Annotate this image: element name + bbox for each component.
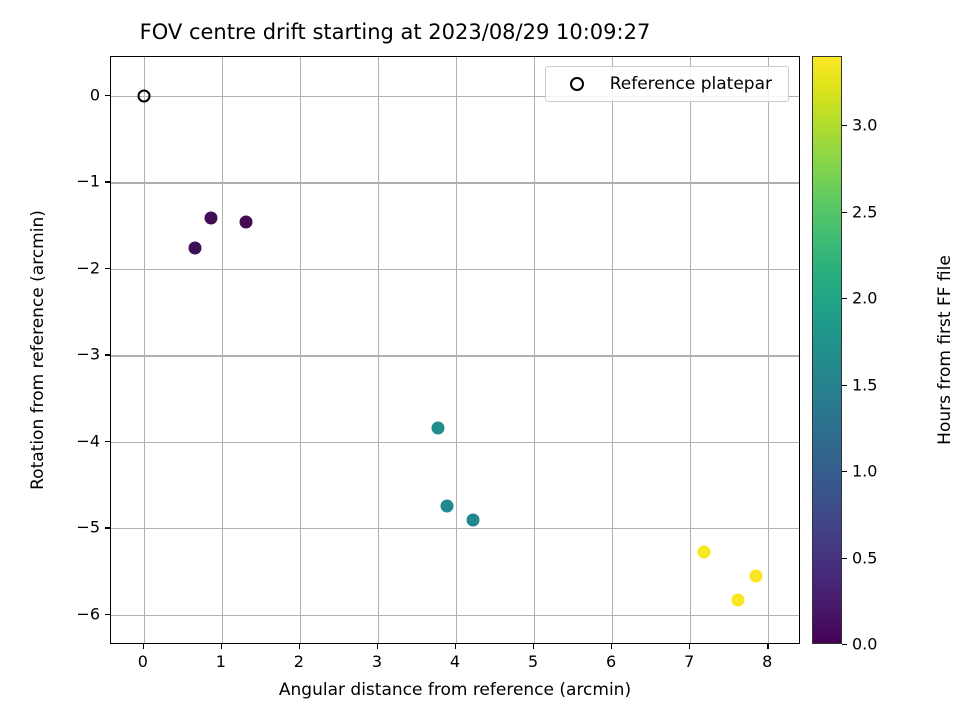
scatter-point — [204, 211, 217, 224]
y-tick-mark — [105, 268, 110, 269]
y-tick-mark — [105, 354, 110, 355]
y-axis-label: Rotation from reference (arcmin) — [28, 56, 48, 644]
x-tick-mark — [299, 644, 300, 649]
scatter-point — [440, 499, 453, 512]
x-tick-mark — [767, 644, 768, 649]
y-tick-mark — [105, 95, 110, 96]
x-tick-mark — [377, 644, 378, 649]
colorbar-tick-label: 2.5 — [852, 202, 877, 221]
gridline-vertical — [222, 57, 223, 643]
x-tick-mark — [455, 644, 456, 649]
gridline-vertical — [690, 57, 691, 643]
x-tick-label: 4 — [450, 652, 460, 671]
x-tick-label: 2 — [294, 652, 304, 671]
x-tick-mark — [689, 644, 690, 649]
gridline-horizontal — [111, 615, 799, 616]
y-tick-mark — [105, 614, 110, 615]
x-tick-mark — [221, 644, 222, 649]
y-tick-label: −5 — [76, 518, 100, 537]
scatter-point — [731, 594, 744, 607]
x-tick-label: 5 — [528, 652, 538, 671]
colorbar-tick-label: 3.0 — [852, 116, 877, 135]
y-tick-label: −3 — [76, 345, 100, 364]
colorbar-tick-mark — [842, 125, 847, 126]
reference-platepar-point — [137, 89, 150, 102]
y-tick-label: −2 — [76, 258, 100, 277]
gridline-vertical — [612, 57, 613, 643]
colorbar-tick-mark — [842, 298, 847, 299]
colorbar-tick-mark — [842, 558, 847, 559]
colorbar-tick-mark — [842, 385, 847, 386]
colorbar-tick-label: 1.5 — [852, 375, 877, 394]
plot-area: Reference platepar — [110, 56, 800, 644]
scatter-point — [749, 569, 762, 582]
y-tick-label: −1 — [76, 172, 100, 191]
colorbar-tick-label: 0.5 — [852, 548, 877, 567]
gridline-vertical — [144, 57, 145, 643]
y-tick-mark — [105, 441, 110, 442]
x-axis-label: Angular distance from reference (arcmin) — [110, 680, 800, 700]
gridline-horizontal — [111, 355, 799, 356]
y-tick-label: −4 — [76, 431, 100, 450]
colorbar-tick-mark — [842, 644, 847, 645]
gridline-horizontal — [111, 269, 799, 270]
gridline-horizontal — [111, 442, 799, 443]
y-tick-label: −6 — [76, 604, 100, 623]
y-tick-mark — [105, 527, 110, 528]
page-title: FOV centre drift starting at 2023/08/29 … — [0, 20, 790, 44]
x-tick-label: 0 — [138, 652, 148, 671]
colorbar-tick-label: 0.0 — [852, 635, 877, 654]
scatter-point — [188, 242, 201, 255]
legend[interactable]: Reference platepar — [545, 66, 789, 102]
x-tick-label: 1 — [216, 652, 226, 671]
scatter-point — [432, 421, 445, 434]
scatter-point — [698, 546, 711, 559]
gridline-vertical — [534, 57, 535, 643]
x-tick-mark — [611, 644, 612, 649]
y-tick-label: 0 — [90, 85, 100, 104]
scatter-point — [240, 216, 253, 229]
gridline-vertical — [300, 57, 301, 643]
colorbar-label: Hours from first FF file — [935, 56, 955, 644]
colorbar: 0.00.51.01.52.02.53.0 — [812, 56, 842, 644]
x-tick-label: 3 — [372, 652, 382, 671]
colorbar-gradient — [812, 56, 842, 644]
colorbar-tick-mark — [842, 471, 847, 472]
colorbar-tick-mark — [842, 212, 847, 213]
x-tick-label: 8 — [762, 652, 772, 671]
gridline-vertical — [768, 57, 769, 643]
gridline-vertical — [456, 57, 457, 643]
reference-platepar-marker-icon — [570, 77, 584, 91]
gridline-horizontal — [111, 528, 799, 529]
colorbar-tick-label: 1.0 — [852, 462, 877, 481]
legend-entry-label: Reference platepar — [610, 74, 776, 94]
x-tick-label: 6 — [606, 652, 616, 671]
x-tick-mark — [533, 644, 534, 649]
figure-canvas: FOV centre drift starting at 2023/08/29 … — [0, 0, 960, 720]
x-tick-label: 7 — [684, 652, 694, 671]
x-tick-mark — [143, 644, 144, 649]
gridline-vertical — [378, 57, 379, 643]
scatter-point — [467, 513, 480, 526]
colorbar-tick-label: 2.0 — [852, 289, 877, 308]
gridline-horizontal — [111, 182, 799, 183]
y-tick-mark — [105, 181, 110, 182]
